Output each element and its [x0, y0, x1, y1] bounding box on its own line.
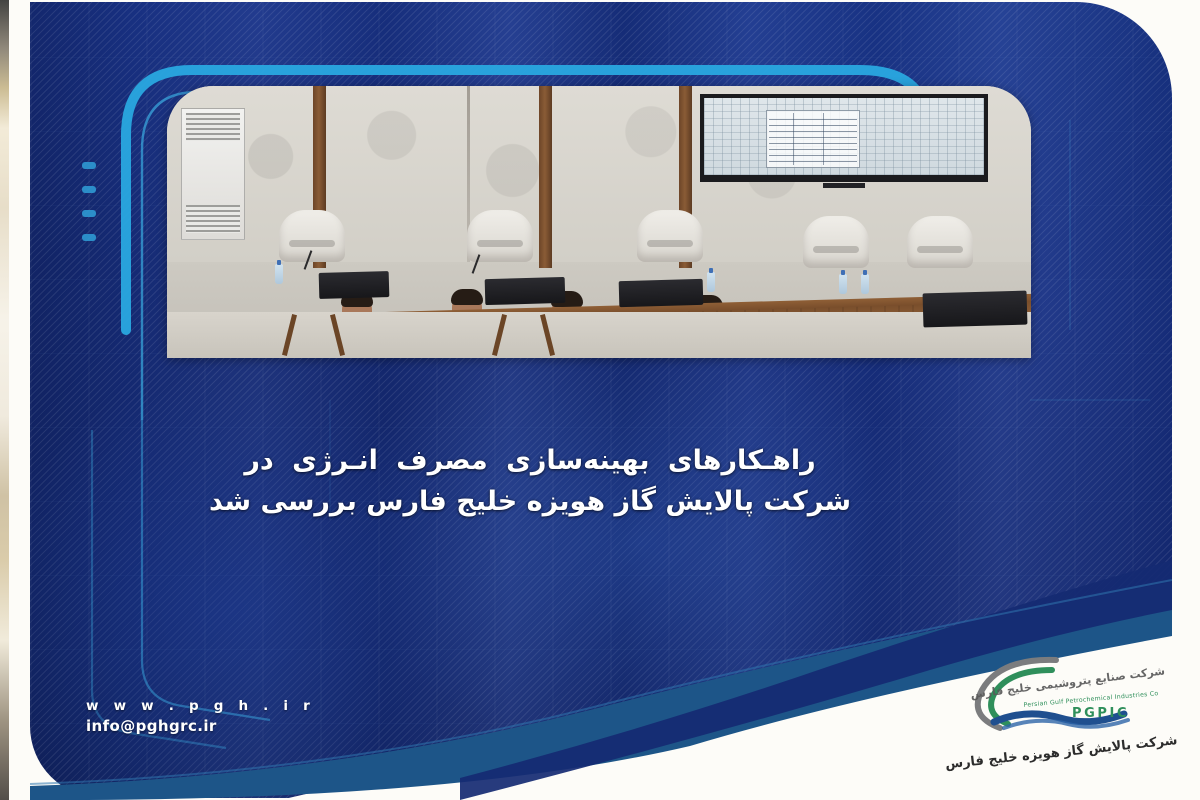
glow-highlight-center [330, 332, 950, 752]
water-bottle [839, 274, 847, 294]
meeting-photo [167, 86, 1031, 358]
wood-pillar [539, 86, 552, 268]
screen-stand [823, 183, 865, 188]
laptop [923, 291, 1028, 328]
water-bottle [275, 264, 283, 284]
headline-line-1: راهـکارهای بهینه‌سازی مصرف انـرژی در [60, 440, 1000, 481]
contact-block: w w w . p g h . i r info@pghgrc.ir [86, 698, 315, 735]
logo-acronym: PGPIC [1072, 706, 1129, 721]
headline-line-2: شرکت پالایش گاز هویزه خلیج فارس بررسی شد [60, 481, 1000, 522]
wall-screen [700, 94, 988, 182]
photo-scene [167, 86, 1031, 358]
ac-grille [186, 205, 240, 233]
news-banner: راهـکارهای بهینه‌سازی مصرف انـرژی در شرک… [0, 0, 1200, 800]
email-address[interactable]: info@pghgrc.ir [86, 717, 315, 735]
air-conditioner [181, 108, 245, 240]
adjacent-image-sliver [0, 0, 9, 800]
chair [279, 210, 345, 262]
website-url[interactable]: w w w . p g h . i r [86, 698, 315, 714]
water-bottle [707, 272, 715, 292]
headline: راهـکارهای بهینه‌سازی مصرف انـرژی در شرک… [60, 440, 1000, 522]
laptop [319, 271, 390, 299]
screen-surface [704, 98, 984, 175]
water-bottle [861, 274, 869, 294]
laptop [619, 279, 704, 307]
laptop [485, 277, 566, 305]
spreadsheet-table [766, 110, 860, 168]
ac-grille [186, 113, 240, 141]
chair [907, 216, 973, 268]
chair [803, 216, 869, 268]
company-name-persian: شرکت پالایش گاز هویزه خلیج فارس [968, 733, 1178, 770]
floor [167, 312, 1031, 358]
chair [467, 210, 533, 262]
pgpic-logo: شرکت صنایع پتروشیمی خلیج فارس Persian Gu… [960, 652, 1178, 780]
chair [637, 210, 703, 262]
